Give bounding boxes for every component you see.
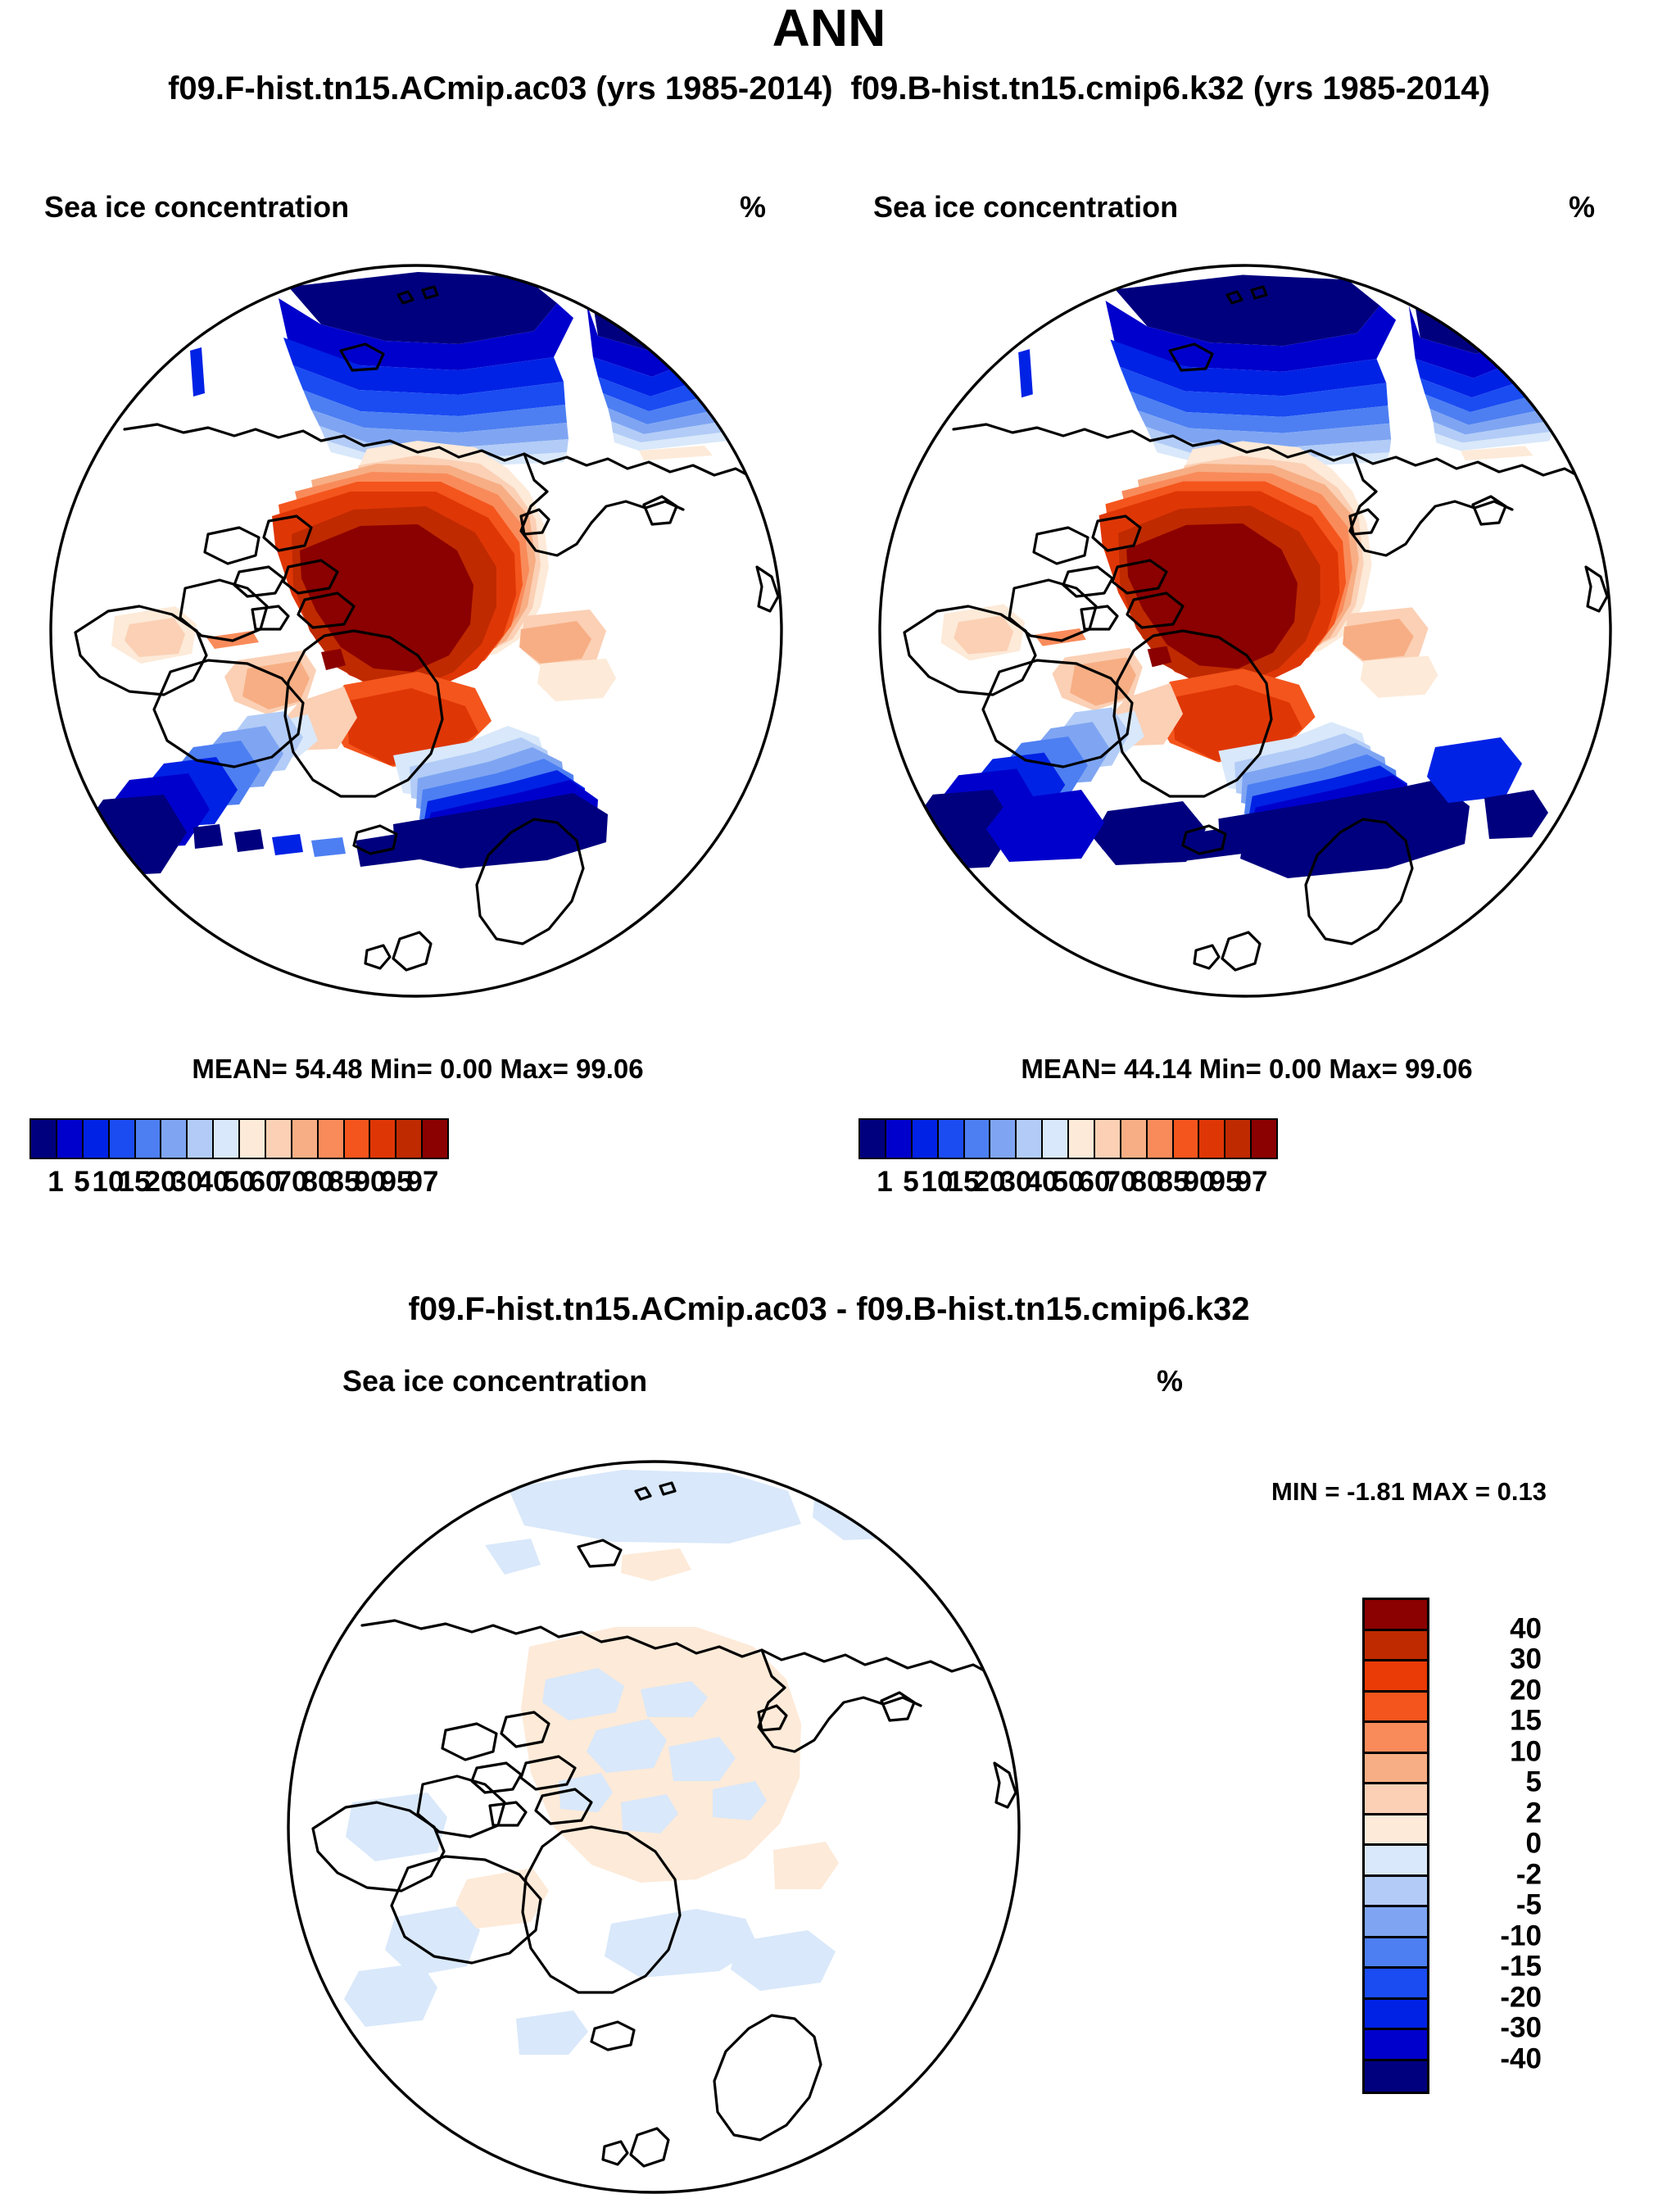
colorbar-tick-label: 1 xyxy=(48,1167,63,1196)
colorbar-cell xyxy=(913,1120,939,1158)
colorbar-cell xyxy=(214,1120,240,1158)
left-panel-variable-label: Sea ice concentration xyxy=(44,193,349,222)
colorbar-cell xyxy=(1017,1120,1043,1158)
colorbar-cell xyxy=(1095,1120,1121,1158)
difference-colorbar-tick-label: -2 xyxy=(1516,1860,1542,1888)
colorbar-tick-label: 5 xyxy=(903,1167,918,1196)
colorbar-cell xyxy=(1225,1120,1252,1158)
difference-colorbar-tick-label: -30 xyxy=(1500,2014,1542,2042)
case-b-title: f09.B-hist.tn15.cmip6.k32 (yrs 1985-2014… xyxy=(851,70,1490,107)
difference-colorbar-tick-label: -15 xyxy=(1500,1952,1542,1981)
difference-colorbar-cell xyxy=(1365,1723,1427,1754)
case-titles: f09.F-hist.tn15.ACmip.ac03 (yrs 1985-201… xyxy=(0,72,1658,105)
difference-colorbar-cell xyxy=(1365,2030,1427,2061)
difference-colorbar-cell xyxy=(1365,1969,1427,2000)
right-polar-map[interactable] xyxy=(862,246,1632,1016)
colorbar-tick-label: 5 xyxy=(74,1167,89,1196)
difference-colorbar-cell xyxy=(1365,1693,1427,1724)
case-a-title: f09.F-hist.tn15.ACmip.ac03 (yrs 1985-201… xyxy=(168,70,832,107)
colorbar-cell xyxy=(31,1120,57,1158)
colorbar-tick-label: 1 xyxy=(877,1167,892,1196)
diff-panel-units-label: % xyxy=(1157,1367,1183,1396)
right-colorbar-labels: 1510152030405060708085909597 xyxy=(858,1167,1278,1200)
colorbar-cell xyxy=(292,1120,319,1158)
page-title: ANN xyxy=(0,2,1658,54)
difference-colorbar-cell xyxy=(1365,2000,1427,2031)
colorbar-cell xyxy=(370,1120,396,1158)
left-polar-map-svg xyxy=(33,246,803,1016)
right-panel-variable-label: Sea ice concentration xyxy=(873,193,1178,222)
difference-colorbar-cell xyxy=(1365,1661,1427,1693)
difference-colorbar-cell xyxy=(1365,1907,1427,1938)
difference-polar-map[interactable] xyxy=(270,1442,1040,2212)
difference-colorbar-cell xyxy=(1365,2061,1427,2092)
difference-polar-map-svg xyxy=(270,1442,1040,2212)
colorbar-cell xyxy=(1252,1120,1276,1158)
colorbar-cell xyxy=(1121,1120,1148,1158)
colorbar-cell xyxy=(57,1120,84,1158)
difference-title: f09.F-hist.tn15.ACmip.ac03 - f09.B-hist.… xyxy=(0,1293,1658,1326)
colorbar-cell xyxy=(240,1120,266,1158)
left-map-ice-field xyxy=(75,272,778,1004)
difference-colorbar-tick-label: 20 xyxy=(1510,1675,1542,1704)
difference-colorbar-tick-label: -10 xyxy=(1500,1921,1542,1950)
left-polar-map[interactable] xyxy=(33,246,803,1016)
difference-colorbar-tick-label: 10 xyxy=(1510,1737,1542,1766)
diff-panel-minmax: MIN = -1.81 MAX = 0.13 xyxy=(1196,1479,1622,1504)
difference-colorbar-labels: 4030201510520-2-5-10-15-20-30-40 xyxy=(1435,1598,1542,2089)
difference-colorbar-tick-label: 5 xyxy=(1526,1768,1542,1797)
difference-colorbar-tick-label: -5 xyxy=(1516,1891,1542,1920)
colorbar-cell xyxy=(136,1120,162,1158)
diff-panel-variable-label: Sea ice concentration xyxy=(342,1367,647,1396)
colorbar-cell xyxy=(396,1120,423,1158)
colorbar-cell xyxy=(939,1120,965,1158)
colorbar-cell xyxy=(188,1120,214,1158)
colorbar-cell xyxy=(84,1120,110,1158)
difference-colorbar-cell xyxy=(1365,1815,1427,1847)
difference-colorbar-tick-label: 0 xyxy=(1526,1829,1542,1858)
colorbar-cell xyxy=(1174,1120,1200,1158)
colorbar-cell xyxy=(161,1120,188,1158)
colorbar-cell xyxy=(423,1120,447,1158)
difference-colorbar-cell xyxy=(1365,1600,1427,1631)
difference-colorbar-tick-label: 2 xyxy=(1526,1798,1542,1827)
left-colorbar[interactable] xyxy=(29,1118,449,1159)
right-colorbar[interactable] xyxy=(858,1118,1278,1159)
difference-colorbar-cell xyxy=(1365,1877,1427,1908)
colorbar-cell xyxy=(110,1120,136,1158)
difference-colorbar-tick-label: -20 xyxy=(1500,1983,1542,2011)
difference-colorbar-cell xyxy=(1365,1754,1427,1785)
colorbar-cell xyxy=(1148,1120,1174,1158)
difference-colorbar-tick-label: -40 xyxy=(1500,2044,1542,2073)
difference-colorbar-cell xyxy=(1365,1784,1427,1815)
right-polar-map-svg xyxy=(862,246,1632,1016)
left-panel-stats: MEAN= 54.48 Min= 0.00 Max= 99.06 xyxy=(33,1055,803,1082)
colorbar-cell xyxy=(990,1120,1017,1158)
colorbar-tick-label: 97 xyxy=(407,1167,439,1196)
right-panel-stats: MEAN= 44.14 Min= 0.00 Max= 99.06 xyxy=(862,1055,1632,1082)
colorbar-cell xyxy=(345,1120,371,1158)
colorbar-cell xyxy=(1199,1120,1225,1158)
difference-colorbar-tick-label: 15 xyxy=(1510,1707,1542,1735)
difference-colorbar-cell xyxy=(1365,1846,1427,1877)
difference-colorbar-tick-label: 40 xyxy=(1510,1614,1542,1643)
colorbar-cell xyxy=(1043,1120,1069,1158)
left-colorbar-labels: 1510152030405060708085909597 xyxy=(29,1167,449,1200)
difference-colorbar-tick-label: 30 xyxy=(1510,1645,1542,1674)
colorbar-cell xyxy=(965,1120,991,1158)
colorbar-cell xyxy=(1069,1120,1095,1158)
right-panel-units-label: % xyxy=(1569,193,1595,222)
colorbar-cell xyxy=(266,1120,292,1158)
right-map-ice-field xyxy=(904,275,1607,997)
colorbar-cell xyxy=(860,1120,886,1158)
colorbar-cell xyxy=(319,1120,345,1158)
diff-map-field xyxy=(313,1470,1022,2169)
difference-colorbar-cell xyxy=(1365,1938,1427,1969)
difference-colorbar-cell xyxy=(1365,1631,1427,1662)
left-panel-units-label: % xyxy=(740,193,766,222)
colorbar-cell xyxy=(886,1120,913,1158)
difference-colorbar[interactable] xyxy=(1362,1598,1429,2094)
colorbar-tick-label: 97 xyxy=(1236,1167,1268,1196)
